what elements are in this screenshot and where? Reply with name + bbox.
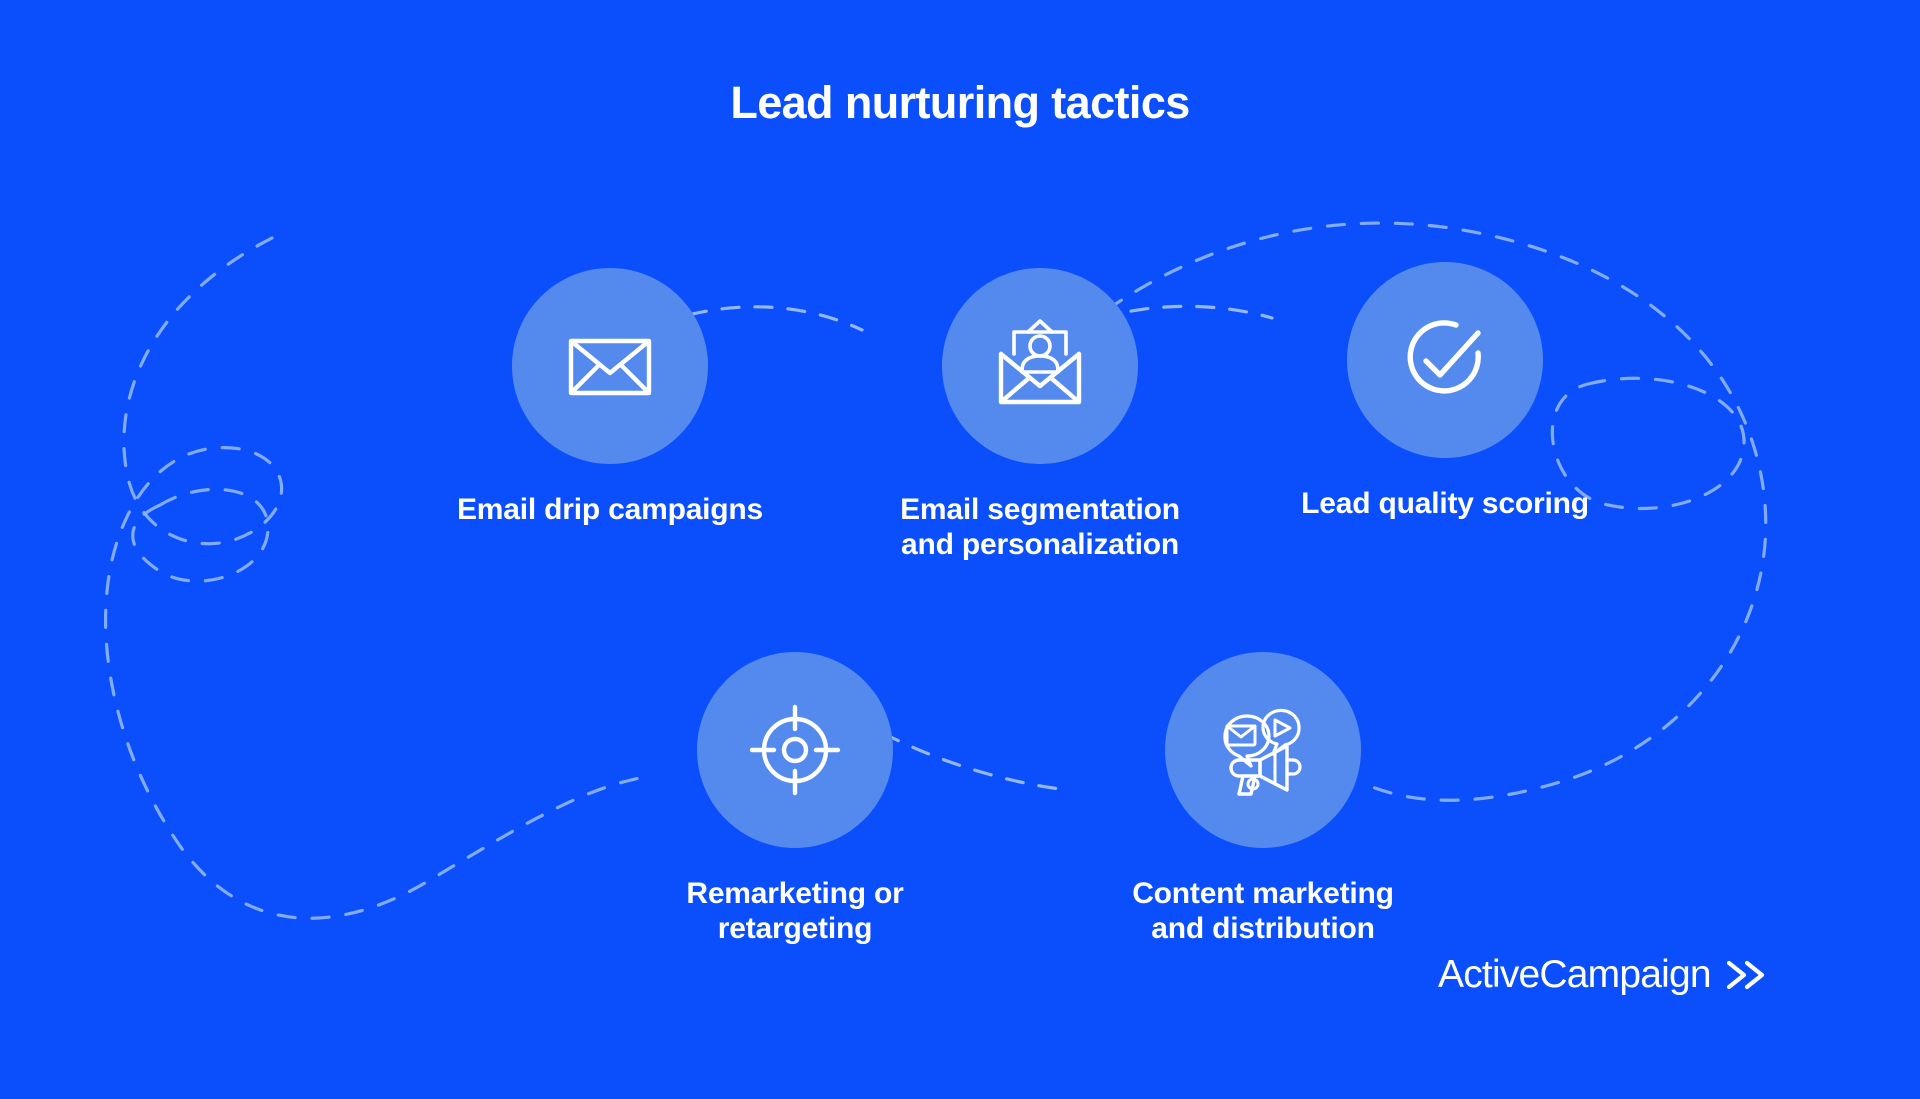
check-circle-icon bbox=[1390, 305, 1500, 415]
tactic-remarketing-or-retargeting[interactable]: Remarketing or retargeting bbox=[605, 652, 985, 947]
tactic-label: Content marketing and distribution bbox=[1132, 876, 1394, 947]
envelope-closed-icon bbox=[555, 311, 665, 421]
logo-wordmark: ActiveCampaign bbox=[1438, 955, 1711, 994]
icon-circle bbox=[1347, 262, 1543, 458]
tactic-label: Remarketing or retargeting bbox=[686, 876, 903, 947]
infographic-canvas: Lead nurturing tactics Email drip campai… bbox=[0, 0, 1920, 1099]
crosshair-target-icon bbox=[740, 695, 850, 805]
activecampaign-logo[interactable]: ActiveCampaign bbox=[1438, 955, 1767, 994]
tactic-label: Lead quality scoring bbox=[1301, 486, 1589, 521]
page-title: Lead nurturing tactics bbox=[0, 78, 1920, 128]
tactic-lead-quality-scoring[interactable]: Lead quality scoring bbox=[1245, 262, 1645, 521]
tactic-email-segmentation-and-personalization[interactable]: Email segmentation and personalization bbox=[850, 268, 1230, 563]
tactic-content-marketing-and-distribution[interactable]: Content marketing and distribution bbox=[1063, 652, 1463, 947]
icon-circle bbox=[697, 652, 893, 848]
icon-circle bbox=[512, 268, 708, 464]
icon-circle bbox=[942, 268, 1138, 464]
dashed-loop-left bbox=[133, 489, 268, 581]
tactic-label: Email segmentation and personalization bbox=[900, 492, 1180, 563]
megaphone-speech-bubbles-icon bbox=[1207, 694, 1319, 806]
tactic-label: Email drip campaigns bbox=[457, 492, 763, 527]
tactic-email-drip-campaigns[interactable]: Email drip campaigns bbox=[390, 268, 830, 527]
envelope-open-contact-icon bbox=[984, 310, 1096, 422]
double-chevron-right-icon bbox=[1725, 957, 1767, 993]
icon-circle bbox=[1165, 652, 1361, 848]
